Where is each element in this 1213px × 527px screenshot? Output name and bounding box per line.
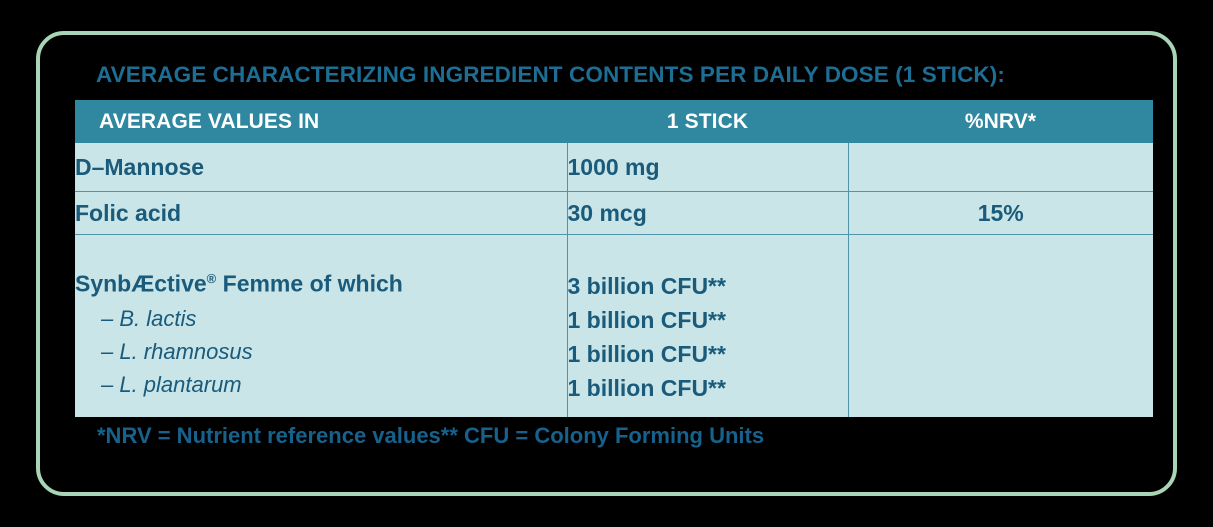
column-header-dose: 1 STICK bbox=[567, 100, 848, 143]
ingredient-dose: 1000 mg bbox=[567, 143, 848, 192]
nutrition-table: AVERAGE VALUES IN 1 STICK %NRV* D–Mannos… bbox=[75, 100, 1153, 417]
ingredient-name-suffix: Femme of which bbox=[216, 271, 403, 297]
ingredient-brand-name: SynbÆctive bbox=[75, 271, 207, 297]
column-header-nrv: %NRV* bbox=[848, 100, 1153, 143]
ingredient-dose: 30 mcg bbox=[567, 192, 848, 235]
ingredient-nrv bbox=[848, 143, 1153, 192]
ingredient-dose-group: 3 billion CFU** 1 billion CFU** 1 billio… bbox=[567, 235, 848, 418]
ingredient-name: Folic acid bbox=[75, 192, 567, 235]
ingredient-nrv: 15% bbox=[848, 192, 1153, 235]
table-body: D–Mannose 1000 mg Folic acid 30 mcg 15% … bbox=[75, 143, 1153, 417]
table-row: SynbÆctive® Femme of which – B. lactis –… bbox=[75, 235, 1153, 418]
ingredient-dose: 1 billion CFU** bbox=[568, 337, 848, 371]
list-item: – L. rhamnosus bbox=[75, 335, 567, 368]
ingredient-name: D–Mannose bbox=[75, 143, 567, 192]
ingredient-dose: 1 billion CFU** bbox=[568, 371, 848, 405]
page-title: AVERAGE CHARACTERIZING INGREDIENT CONTEN… bbox=[96, 60, 1156, 90]
registered-trademark-icon: ® bbox=[207, 271, 217, 286]
ingredient-dose: 3 billion CFU** bbox=[568, 269, 848, 303]
footnote-text: *NRV = Nutrient reference values** CFU =… bbox=[97, 421, 764, 451]
table-header: AVERAGE VALUES IN 1 STICK %NRV* bbox=[75, 100, 1153, 143]
list-item: – B. lactis bbox=[75, 302, 567, 335]
ingredient-nrv bbox=[848, 235, 1153, 418]
ingredient-name: SynbÆctive® Femme of which bbox=[75, 265, 567, 298]
column-header-name: AVERAGE VALUES IN bbox=[75, 100, 567, 143]
table-header-row: AVERAGE VALUES IN 1 STICK %NRV* bbox=[75, 100, 1153, 143]
list-item: – L. plantarum bbox=[75, 368, 567, 401]
ingredient-dose: 1 billion CFU** bbox=[568, 303, 848, 337]
ingredient-name-group: SynbÆctive® Femme of which – B. lactis –… bbox=[75, 235, 567, 418]
strain-list: – B. lactis – L. rhamnosus – L. plantaru… bbox=[75, 302, 567, 401]
table-row: D–Mannose 1000 mg bbox=[75, 143, 1153, 192]
screenshot-root: AVERAGE CHARACTERIZING INGREDIENT CONTEN… bbox=[0, 0, 1213, 527]
table-row: Folic acid 30 mcg 15% bbox=[75, 192, 1153, 235]
